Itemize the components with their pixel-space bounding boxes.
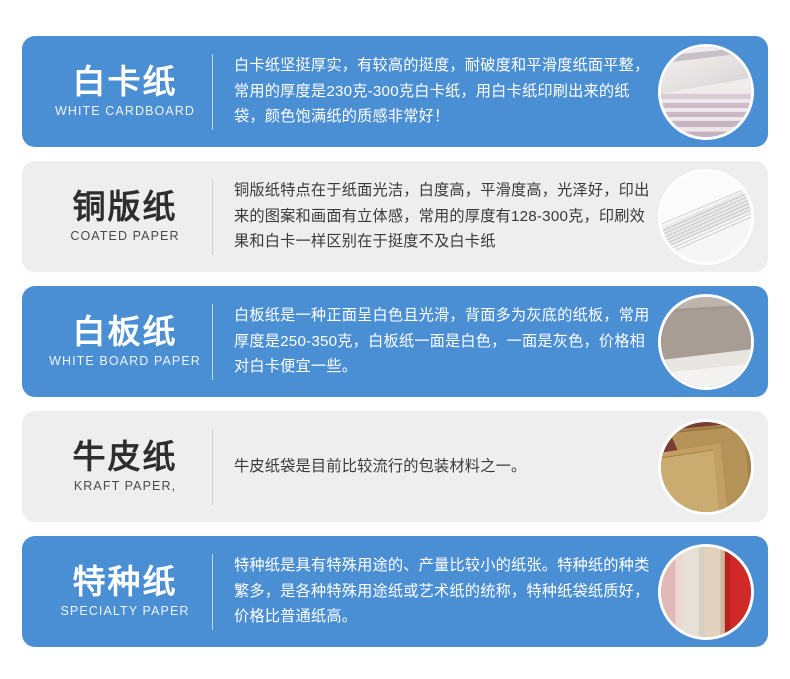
paper-type-card-kraft-paper[interactable]: 牛皮纸 KRAFT PAPER, 牛皮纸袋是目前比较流行的包装材料之一。 xyxy=(22,411,768,522)
card-title-en: WHITE CARDBOARD xyxy=(38,104,212,118)
paper-type-card-white-board-paper[interactable]: 白板纸 WHITE BOARD PAPER 白板纸是一种正面呈白色且光滑，背面多… xyxy=(22,286,768,397)
card-title-cn: 白板纸 xyxy=(38,315,212,350)
paper-type-card-specialty-paper[interactable]: 特种纸 SPECIALTY PAPER 特种纸是具有特殊用途的、产量比较小的纸张… xyxy=(22,536,768,647)
card-title-block: 白板纸 WHITE BOARD PAPER xyxy=(22,315,212,369)
white-cardboard-stack-photo xyxy=(658,44,754,140)
card-title-block: 白卡纸 WHITE CARDBOARD xyxy=(22,65,212,119)
kraft-paper-sheets-photo xyxy=(658,419,754,515)
card-thumbnail-wrap xyxy=(658,294,754,390)
card-thumbnail-wrap xyxy=(658,544,754,640)
card-title-block: 特种纸 SPECIALTY PAPER xyxy=(22,565,212,619)
card-title-en: KRAFT PAPER, xyxy=(38,479,212,493)
paper-type-card-white-cardboard[interactable]: 白卡纸 WHITE CARDBOARD 白卡纸坚挺厚实，有较高的挺度，耐破度和平… xyxy=(22,36,768,147)
card-title-cn: 铜版纸 xyxy=(38,190,212,225)
card-title-cn: 特种纸 xyxy=(38,565,212,600)
card-description: 白卡纸坚挺厚实，有较高的挺度，耐破度和平滑度纸面平整，常用的厚度是230克-30… xyxy=(213,53,658,130)
card-title-cn: 牛皮纸 xyxy=(38,440,212,475)
card-description: 牛皮纸袋是目前比较流行的包装材料之一。 xyxy=(213,454,658,480)
card-title-block: 铜版纸 COATED PAPER xyxy=(22,190,212,244)
card-title-en: COATED PAPER xyxy=(38,229,212,243)
card-thumbnail-wrap xyxy=(658,169,754,265)
paper-types-comparison-page: 白卡纸 WHITE CARDBOARD 白卡纸坚挺厚实，有较高的挺度，耐破度和平… xyxy=(0,0,790,679)
card-thumbnail-wrap xyxy=(658,419,754,515)
card-title-cn: 白卡纸 xyxy=(38,65,212,100)
card-description: 铜版纸特点在于纸面光洁，白度高，平滑度高，光泽好，印出来的图案和画面有立体感，常… xyxy=(213,178,658,255)
card-title-en: SPECIALTY PAPER xyxy=(38,604,212,618)
card-thumbnail-wrap xyxy=(658,44,754,140)
coated-paper-stack-photo xyxy=(658,169,754,265)
white-board-paper-photo xyxy=(658,294,754,390)
paper-type-card-coated-paper[interactable]: 铜版纸 COATED PAPER 铜版纸特点在于纸面光洁，白度高，平滑度高，光泽… xyxy=(22,161,768,272)
card-title-block: 牛皮纸 KRAFT PAPER, xyxy=(22,440,212,494)
specialty-paper-swatches-photo xyxy=(658,544,754,640)
card-title-en: WHITE BOARD PAPER xyxy=(38,354,212,368)
card-description: 特种纸是具有特殊用途的、产量比较小的纸张。特种纸的种类繁多，是各种特殊用途纸或艺… xyxy=(213,553,658,630)
card-description: 白板纸是一种正面呈白色且光滑，背面多为灰底的纸板，常用厚度是250-350克，白… xyxy=(213,303,658,380)
